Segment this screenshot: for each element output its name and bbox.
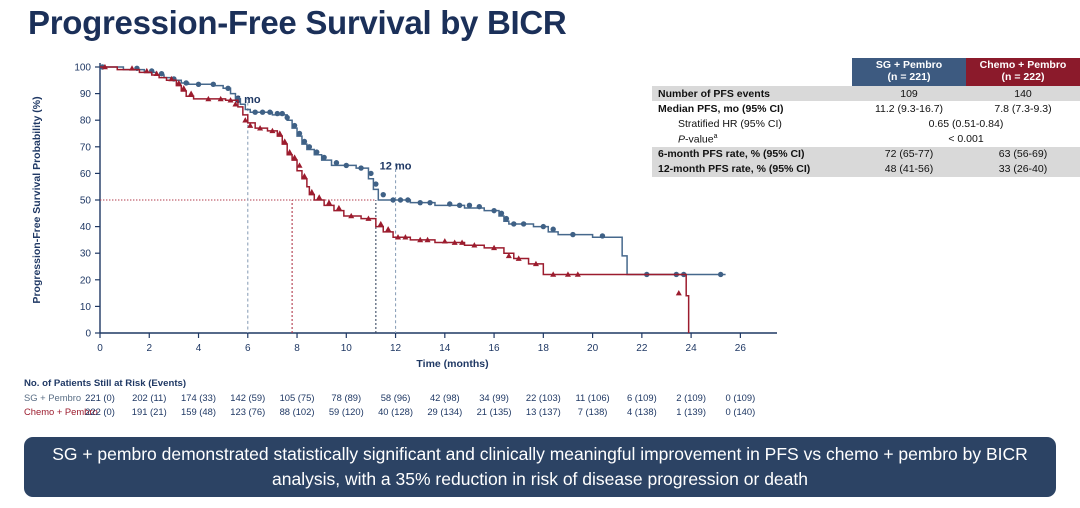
- annotation-label: 12 mo: [380, 160, 412, 172]
- risk-table-row: Chemo + Pembro222 (0)191 (21)159 (48)123…: [24, 406, 1074, 420]
- censor-marker-circle: [196, 82, 201, 87]
- censor-marker-triangle: [129, 65, 135, 70]
- censor-marker-circle: [417, 200, 422, 205]
- x-axis-tick-label: 6: [245, 343, 251, 354]
- censor-marker-circle: [427, 200, 432, 205]
- y-axis-tick-label: 0: [85, 329, 91, 340]
- y-axis-tick-label: 10: [80, 302, 92, 313]
- x-axis-tick-label: 14: [439, 343, 451, 354]
- censor-marker-circle: [477, 204, 482, 209]
- censor-marker-circle: [211, 82, 216, 87]
- risk-table-cell: 0 (109): [710, 392, 770, 403]
- censor-marker-circle: [390, 197, 395, 202]
- y-axis-tick-label: 80: [80, 116, 92, 127]
- stats-row-value-chemo: 33 (26-40): [966, 162, 1080, 177]
- x-axis-tick-label: 20: [587, 343, 599, 354]
- risk-table-rows: SG + Pembro221 (0)202 (11)174 (33)142 (5…: [24, 392, 1074, 420]
- censor-marker-triangle: [378, 221, 384, 226]
- censor-marker-circle: [321, 155, 326, 160]
- censor-marker-circle: [511, 221, 516, 226]
- censor-marker-circle: [358, 165, 363, 170]
- x-axis-title: Time (months): [416, 358, 488, 370]
- stats-row-value-combined: 0.65 (0.51-0.84): [852, 116, 1080, 131]
- censor-marker-circle: [267, 110, 272, 115]
- censor-marker-circle: [600, 233, 605, 238]
- censor-marker-circle: [314, 149, 319, 154]
- y-axis-tick-label: 90: [80, 89, 92, 100]
- censor-marker-circle: [260, 110, 265, 115]
- censor-marker-circle: [541, 224, 546, 229]
- x-axis-tick-label: 8: [294, 343, 300, 354]
- censor-marker-triangle: [385, 226, 391, 231]
- censor-marker-circle: [297, 131, 302, 136]
- censor-marker-circle: [504, 216, 509, 221]
- censor-marker-circle: [302, 139, 307, 144]
- stats-header-chemo-pembro: Chemo + Pembro (n = 222): [966, 58, 1080, 86]
- x-axis-tick-label: 18: [538, 343, 550, 354]
- censor-marker-circle: [457, 203, 462, 208]
- stats-header-chemo-n: (n = 222): [968, 72, 1078, 84]
- conclusion-banner-text: SG + pembro demonstrated statistically s…: [46, 442, 1034, 492]
- y-axis-tick-label: 50: [80, 196, 92, 207]
- y-axis-tick-label: 60: [80, 169, 92, 180]
- stats-header-sg-n: (n = 221): [854, 72, 964, 84]
- y-axis-tick-label: 70: [80, 142, 92, 153]
- stats-row-value-sg: 72 (65-77): [852, 147, 966, 162]
- censor-marker-circle: [398, 197, 403, 202]
- x-axis-tick-label: 0: [97, 343, 103, 354]
- censor-marker-circle: [284, 115, 289, 120]
- risk-table-row: SG + Pembro221 (0)202 (11)174 (33)142 (5…: [24, 392, 1074, 406]
- stats-header-sg-pembro: SG + Pembro (n = 221): [852, 58, 966, 86]
- x-axis-tick-label: 26: [735, 343, 747, 354]
- censor-marker-triangle: [676, 290, 682, 295]
- km-plot-svg: 0102030405060708090100Progression-Free S…: [0, 55, 790, 375]
- x-axis-tick-label: 22: [636, 343, 648, 354]
- censor-marker-circle: [381, 192, 386, 197]
- censor-marker-circle: [570, 232, 575, 237]
- stats-row-value-sg: 11.2 (9.3-16.7): [852, 101, 966, 116]
- risk-table-cell: 0 (140): [710, 406, 770, 417]
- censor-marker-circle: [447, 201, 452, 206]
- censor-marker-circle: [373, 181, 378, 186]
- y-axis-tick-label: 30: [80, 249, 92, 260]
- x-axis-tick-label: 24: [686, 343, 698, 354]
- censor-marker-circle: [344, 163, 349, 168]
- page-title: Progression-Free Survival by BICR: [28, 4, 566, 42]
- risk-table-heading: No. of Patients Still at Risk (Events): [24, 378, 1074, 389]
- censor-marker-circle: [499, 211, 504, 216]
- censor-marker-triangle: [336, 205, 342, 210]
- stats-row-value-combined: < 0.001: [852, 131, 1080, 147]
- censor-marker-circle: [718, 272, 723, 277]
- x-axis-tick-label: 10: [341, 343, 353, 354]
- censor-marker-circle: [184, 80, 189, 85]
- stats-header-sg-name: SG + Pembro: [854, 60, 964, 72]
- stats-row-value-chemo: 7.8 (7.3-9.3): [966, 101, 1080, 116]
- stats-row-value-chemo: 140: [966, 86, 1080, 101]
- censor-marker-triangle: [188, 91, 194, 96]
- x-axis-tick-label: 16: [489, 343, 501, 354]
- conclusion-banner: SG + pembro demonstrated statistically s…: [24, 437, 1056, 497]
- x-axis-tick-label: 4: [196, 343, 202, 354]
- censor-marker-circle: [521, 221, 526, 226]
- censor-marker-circle: [292, 123, 297, 128]
- stats-row-value-sg: 48 (41-56): [852, 162, 966, 177]
- stats-header-chemo-name: Chemo + Pembro: [968, 60, 1078, 72]
- censor-marker-circle: [405, 197, 410, 202]
- censor-marker-triangle: [442, 238, 448, 243]
- risk-table: No. of Patients Still at Risk (Events) S…: [24, 378, 1074, 420]
- censor-marker-circle: [368, 171, 373, 176]
- x-axis-tick-label: 2: [146, 343, 152, 354]
- y-axis-tick-label: 100: [74, 63, 91, 74]
- stats-row-value-sg: 109: [852, 86, 966, 101]
- censor-marker-triangle: [316, 194, 322, 199]
- censor-marker-circle: [307, 144, 312, 149]
- stats-row-value-chemo: 63 (56-69): [966, 147, 1080, 162]
- censor-marker-triangle: [154, 71, 160, 76]
- y-axis-tick-label: 20: [80, 275, 92, 286]
- censor-marker-circle: [467, 203, 472, 208]
- km-chart: 0102030405060708090100Progression-Free S…: [0, 55, 790, 375]
- y-axis-tick-label: 40: [80, 222, 92, 233]
- x-axis-tick-label: 12: [390, 343, 402, 354]
- censor-marker-circle: [334, 160, 339, 165]
- y-axis-title: Progression-Free Survival Probability (%…: [31, 96, 43, 303]
- censor-marker-circle: [275, 111, 280, 116]
- censor-marker-circle: [491, 208, 496, 213]
- censor-marker-circle: [550, 227, 555, 232]
- censor-marker-circle: [280, 111, 285, 116]
- censor-marker-circle: [225, 86, 230, 91]
- censor-marker-circle: [252, 110, 257, 115]
